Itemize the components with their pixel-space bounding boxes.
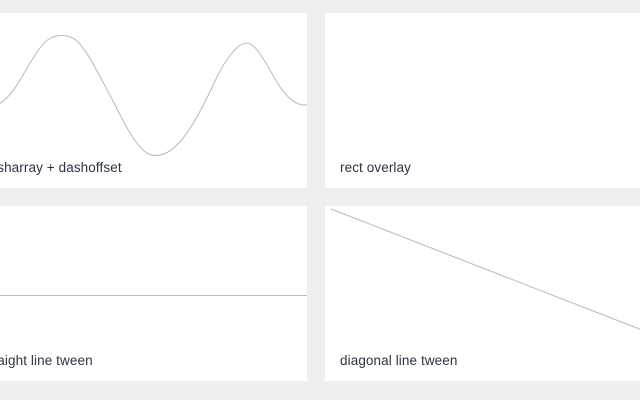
card-label-dasharray-dashoffset: dasharray + dashoffset [0,161,122,175]
card-diagonal-line-tween[interactable]: diagonal line tween [325,206,640,381]
card-label-straight-line-tween: straight line tween [0,354,93,368]
card-label-diagonal-line-tween: diagonal line tween [340,354,458,368]
card-straight-line-tween[interactable]: straight line tween [0,206,307,381]
card-rect-overlay[interactable]: rect overlay [325,13,640,188]
card-label-rect-overlay: rect overlay [340,161,411,175]
card-dasharray-dashoffset[interactable]: dasharray + dashoffset [0,13,307,188]
